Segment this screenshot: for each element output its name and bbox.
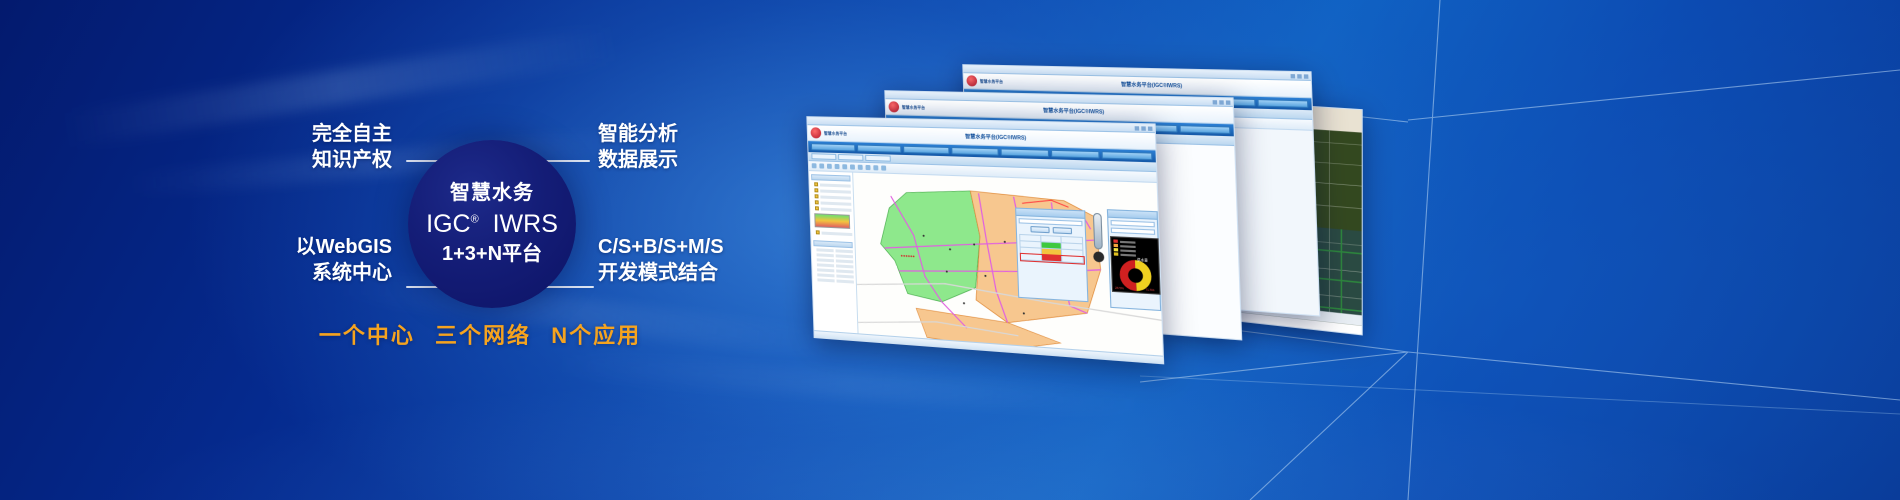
donut-chart-svg: 供水量 28.5% 71.5% xyxy=(1111,237,1159,293)
registered-mark-icon: ® xyxy=(471,213,479,225)
layer-tree-header xyxy=(811,174,850,181)
measure-icon xyxy=(865,165,870,170)
label-top-right-line2: 数据展示 xyxy=(598,148,678,174)
minimize-icon[interactable] xyxy=(1213,100,1218,104)
screenshot-stack: 智慧水务平台 智慧水务平台(IGC®IWRS) xyxy=(780,0,1900,500)
banner-root: 智慧水务 IGC® IWRS 1+3+N平台 完全自主 知识产权 以WebGIS… xyxy=(0,0,1900,500)
thematic-chart-panel[interactable]: 供水量 28.5% 71.5% xyxy=(1107,209,1161,311)
maximize-icon[interactable] xyxy=(1219,100,1224,104)
label-bottom-left-line2: 系统中心 xyxy=(192,261,392,287)
map-annotation-label: ●●●●●● xyxy=(901,254,915,259)
select-icon xyxy=(858,165,863,170)
attribute-panel-header xyxy=(813,240,852,248)
center-hub: 智慧水务 IGC® IWRS 1+3+N平台 xyxy=(408,140,576,308)
window-title: 智慧水务平台(IGC®IWRS) xyxy=(1121,81,1182,90)
layer-tree-item[interactable] xyxy=(815,206,852,212)
sub-tab-water-balance xyxy=(811,153,836,160)
label-bottom-left-line1: 以WebGIS xyxy=(192,235,392,261)
window-title: 智慧水务平台(IGC®IWRS) xyxy=(1043,107,1104,116)
folder-icon xyxy=(815,206,819,210)
attribute-row xyxy=(816,248,853,253)
panel-body: 供水量 28.5% 71.5% xyxy=(1108,218,1157,240)
close-icon[interactable] xyxy=(1304,74,1309,78)
panel-body xyxy=(1016,216,1086,266)
legend-color-ramp xyxy=(814,213,850,229)
zoom-slider[interactable] xyxy=(1093,213,1103,250)
query-button xyxy=(1030,226,1049,233)
gis-map-canvas[interactable]: ●●●●●● xyxy=(853,173,1163,364)
app-name: 智慧水务平台 xyxy=(902,104,925,111)
nav-tab-burst-simulation xyxy=(1000,148,1048,157)
close-icon[interactable] xyxy=(1148,126,1153,130)
analysis-result-panel[interactable] xyxy=(1015,208,1088,303)
print-icon xyxy=(827,164,832,169)
window-title: 智慧水务平台(IGC®IWRS) xyxy=(965,133,1026,142)
nav-tab-comprehensive-query xyxy=(811,143,855,151)
concept-diagram: 智慧水务 IGC® IWRS 1+3+N平台 完全自主 知识产权 以WebGIS… xyxy=(0,0,900,500)
label-top-left-line2: 知识产权 xyxy=(192,148,392,174)
pan-icon xyxy=(850,164,855,169)
minimize-icon[interactable] xyxy=(1291,74,1296,78)
folder-icon xyxy=(815,194,819,198)
layer-tree-item[interactable] xyxy=(814,188,851,193)
nav-tab-system-settings xyxy=(1102,151,1153,160)
cancel-button xyxy=(1052,227,1071,234)
identify-icon xyxy=(873,165,878,170)
close-icon[interactable] xyxy=(1226,100,1231,104)
maximize-icon[interactable] xyxy=(1297,74,1302,78)
sub-tab-pressure-monitor xyxy=(838,154,863,161)
label-bottom-right-line2: 开发模式结合 xyxy=(598,261,724,287)
layer-tree-item[interactable] xyxy=(815,194,852,199)
layer-tree-item[interactable] xyxy=(814,182,851,187)
chart-select[interactable] xyxy=(1111,220,1155,227)
chart-pct-right: 71.5% xyxy=(1145,287,1155,292)
zoom-in-icon xyxy=(835,164,840,169)
hub-product-2: IWRS xyxy=(493,210,558,238)
hub-title: 智慧水务 xyxy=(450,181,534,206)
nav-tab-reports xyxy=(1051,150,1100,159)
save-icon xyxy=(819,163,824,168)
hub-platform: 1+3+N平台 xyxy=(442,241,542,267)
gis-desktop-window[interactable]: 智慧水务平台 智慧水务平台(IGC®IWRS) xyxy=(806,116,1164,364)
label-top-left: 完全自主 知识产权 xyxy=(192,122,392,173)
app-name: 智慧水务平台 xyxy=(824,130,847,137)
maximize-icon[interactable] xyxy=(1141,126,1146,130)
label-bottom-right: C/S+B/S+M/S 开发模式结合 xyxy=(598,235,724,286)
zoom-out-icon xyxy=(842,164,847,169)
attribute-row xyxy=(817,278,854,283)
chart-value-label: 供水量 xyxy=(1137,257,1149,263)
donut-chart-container: 供水量 28.5% 71.5% xyxy=(1110,236,1161,295)
tagline: 一个中心 三个网络 N个应用 xyxy=(200,318,760,350)
app-logo-icon xyxy=(810,127,821,138)
folder-icon xyxy=(814,188,818,192)
layer-tree-panel[interactable] xyxy=(809,171,859,340)
nav-tab-data-management xyxy=(857,144,902,152)
label-top-right-line1: 智能分析 xyxy=(598,122,678,148)
label-top-right: 智能分析 数据展示 xyxy=(598,122,678,173)
tagline-part-1: 一个中心 xyxy=(319,323,415,348)
minimize-icon[interactable] xyxy=(1135,126,1140,130)
map-navigation-control[interactable] xyxy=(1092,213,1105,276)
tagline-part-3: N个应用 xyxy=(551,323,641,348)
layer-icon xyxy=(881,165,886,170)
layer-tree-item[interactable] xyxy=(816,230,853,236)
hub-product: IGC xyxy=(426,210,470,238)
tagline-part-2: 三个网络 xyxy=(435,323,531,348)
chart-pct-left: 28.5% xyxy=(1115,285,1125,290)
label-bottom-left: 以WebGIS 系统中心 xyxy=(192,235,392,286)
pan-compass-icon[interactable] xyxy=(1093,251,1104,262)
nav-tab xyxy=(1258,99,1309,108)
app-logo-icon xyxy=(966,75,977,86)
nav-tab xyxy=(1180,125,1231,134)
result-table xyxy=(1019,234,1084,264)
chart-date-range[interactable] xyxy=(1111,228,1155,235)
folder-icon xyxy=(816,230,820,234)
label-bottom-right-line1: C/S+B/S+M/S xyxy=(598,235,724,261)
nav-tab-pipe-analysis xyxy=(904,146,950,154)
layer-tree-item[interactable] xyxy=(815,200,852,206)
hub-product-line: IGC® IWRS xyxy=(426,208,558,241)
folder-icon xyxy=(814,182,818,186)
nav-tab-pipe-inspection xyxy=(951,147,998,156)
sub-tab-water-quality xyxy=(865,155,891,162)
open-icon xyxy=(812,163,817,168)
app-logo-icon xyxy=(888,101,899,112)
attribute-row xyxy=(817,258,854,263)
app-name: 智慧水务平台 xyxy=(980,78,1003,85)
label-top-left-line1: 完全自主 xyxy=(192,122,392,148)
attribute-row xyxy=(817,253,854,258)
folder-icon xyxy=(815,200,819,204)
